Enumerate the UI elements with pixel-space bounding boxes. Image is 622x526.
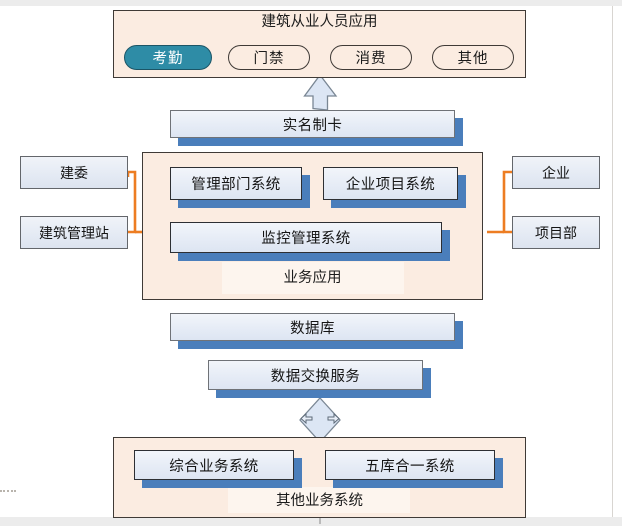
pill-attendance-label: 考勤	[153, 47, 184, 68]
box-database-face: 数据库	[170, 313, 455, 341]
up-arrow-card-to-top-group	[305, 75, 337, 110]
actor-construction-commission-label: 建委	[60, 163, 88, 183]
box-real-name-card-face: 实名制卡	[170, 110, 455, 138]
box-data-exchange-service-face: 数据交换服务	[208, 360, 423, 390]
box-five-database-unified-system-face: 五库合一系统	[325, 450, 495, 480]
box-data-exchange-service-label: 数据交换服务	[271, 365, 360, 386]
box-management-department-system-face: 管理部门系统	[170, 167, 302, 200]
box-five-database-unified-system[interactable]: 五库合一系统	[325, 450, 495, 480]
actor-construction-management-station-label: 建筑管理站	[39, 223, 109, 243]
box-management-department-system[interactable]: 管理部门系统	[170, 167, 302, 200]
bottom-group-title: 其他业务系统	[113, 494, 526, 509]
box-five-database-unified-system-label: 五库合一系统	[365, 455, 454, 476]
box-management-department-system-label: 管理部门系统	[191, 173, 280, 194]
actor-enterprise-label: 企业	[542, 163, 570, 183]
box-integrated-business-system-face: 综合业务系统	[134, 450, 294, 480]
page-chrome-top-strip	[0, 0, 622, 6]
box-database[interactable]: 数据库	[170, 313, 455, 341]
top-group-title: 建筑从业人员应用	[113, 15, 526, 30]
pill-consumption[interactable]: 消费	[330, 45, 412, 70]
actor-project-department[interactable]: 项目部	[512, 216, 600, 249]
pill-access-control-label: 门禁	[254, 47, 285, 68]
box-integrated-business-system[interactable]: 综合业务系统	[134, 450, 294, 480]
actor-enterprise[interactable]: 企业	[512, 156, 600, 189]
pill-attendance[interactable]: 考勤	[124, 45, 212, 70]
box-real-name-card-label: 实名制卡	[283, 114, 343, 135]
actor-construction-commission[interactable]: 建委	[20, 156, 128, 189]
box-data-exchange-service[interactable]: 数据交换服务	[208, 360, 423, 390]
box-integrated-business-system-label: 综合业务系统	[169, 455, 258, 476]
actor-project-department-label: 项目部	[535, 223, 577, 243]
box-database-label: 数据库	[290, 317, 335, 338]
document-right-edge	[612, 6, 613, 517]
page-chrome-bottom-strip	[0, 517, 622, 526]
business-group-title: 业务应用	[142, 271, 483, 286]
actor-construction-management-station[interactable]: 建筑管理站	[20, 216, 128, 249]
box-monitoring-management-system-face: 监控管理系统	[170, 222, 442, 253]
right-actors-bracket	[487, 172, 512, 232]
dotted-line-artifact	[0, 490, 16, 492]
box-real-name-card[interactable]: 实名制卡	[170, 110, 455, 138]
pill-consumption-label: 消费	[356, 47, 387, 68]
diagram-canvas: 建筑从业人员应用 考勤 门禁 消费 其他 实名制卡 业务应用 管理部门系统 企业…	[0, 0, 622, 526]
box-enterprise-project-system-face: 企业项目系统	[323, 167, 458, 200]
pill-other-label: 其他	[458, 47, 489, 68]
box-enterprise-project-system[interactable]: 企业项目系统	[323, 167, 458, 200]
box-monitoring-management-system[interactable]: 监控管理系统	[170, 222, 442, 253]
box-monitoring-management-system-label: 监控管理系统	[261, 227, 350, 248]
pill-access-control[interactable]: 门禁	[228, 45, 310, 70]
box-enterprise-project-system-label: 企业项目系统	[346, 173, 435, 194]
pill-other[interactable]: 其他	[432, 45, 514, 70]
